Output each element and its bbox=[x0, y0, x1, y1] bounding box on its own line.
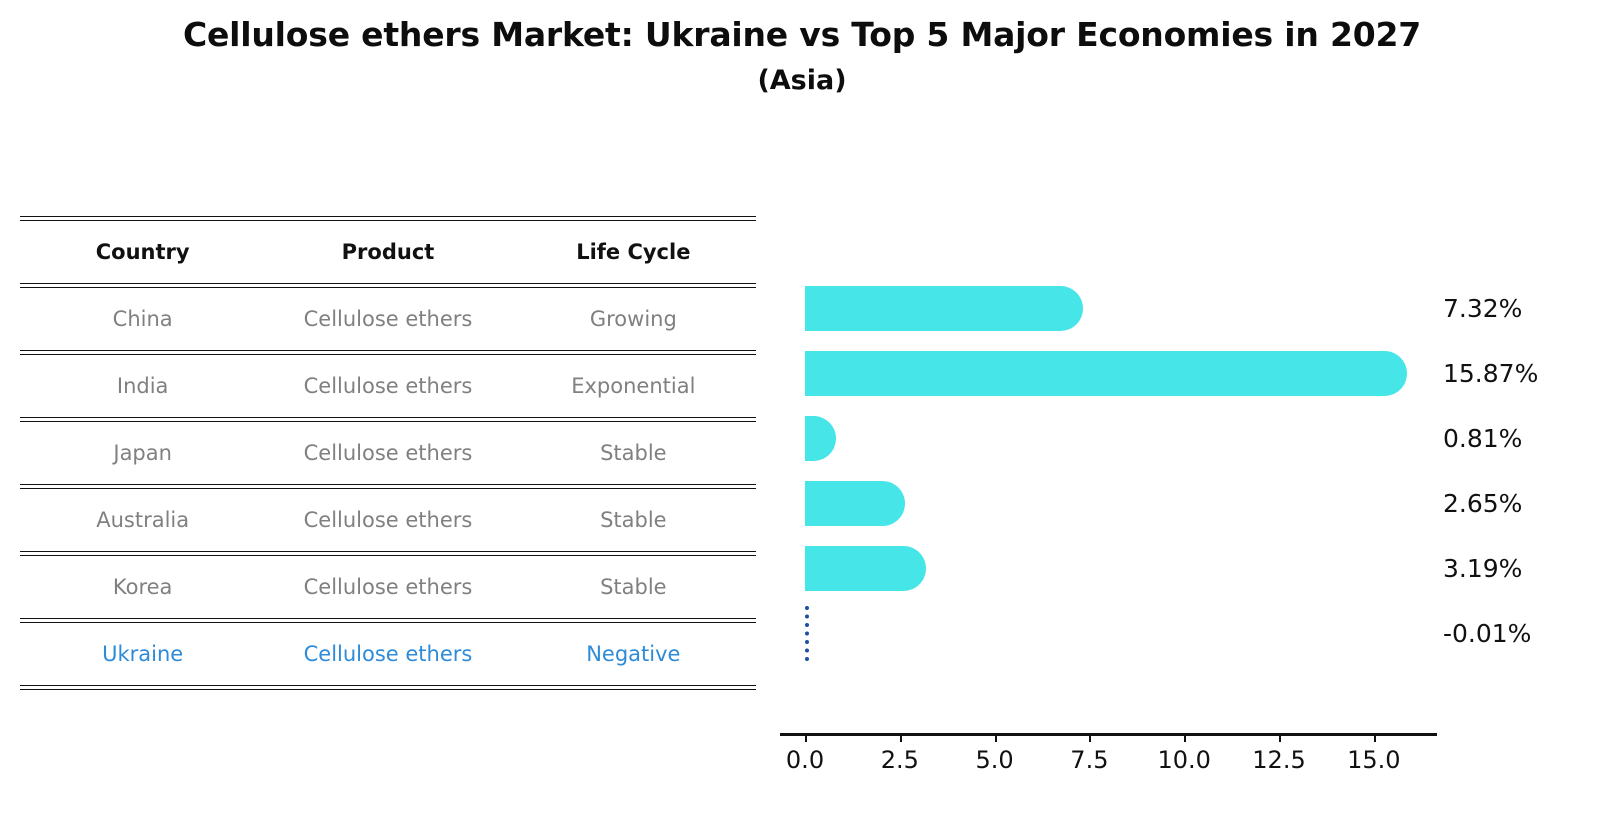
x-tick-label: 12.5 bbox=[1252, 746, 1305, 774]
x-tick bbox=[900, 733, 902, 742]
bar-row: 7.32% bbox=[780, 276, 1460, 341]
x-tick-label: 7.5 bbox=[1070, 746, 1108, 774]
x-tick-label: 5.0 bbox=[976, 746, 1014, 774]
cell-life-cycle: Stable bbox=[511, 422, 756, 484]
bar-australia[interactable] bbox=[805, 481, 905, 526]
x-tick bbox=[1089, 733, 1091, 742]
column-header-country: Country bbox=[20, 221, 265, 283]
x-axis-line bbox=[780, 733, 1437, 736]
x-tick bbox=[1374, 733, 1376, 742]
table-header-row: Country Product Life Cycle bbox=[20, 221, 756, 283]
bar-row: -0.01% bbox=[780, 601, 1460, 666]
cell-product: Cellulose ethers bbox=[265, 355, 510, 417]
table-rule-bottom bbox=[20, 685, 756, 690]
bar-row: 3.19% bbox=[780, 536, 1460, 601]
table-row: Australia Cellulose ethers Stable bbox=[20, 489, 756, 551]
chart-subtitle: (Asia) bbox=[0, 58, 1604, 104]
x-tick bbox=[805, 733, 807, 742]
country-table-panel: Country Product Life Cycle China Cellulo… bbox=[20, 216, 756, 690]
table-row-highlighted: Ukraine Cellulose ethers Negative bbox=[20, 623, 756, 685]
cell-country: Japan bbox=[20, 422, 265, 484]
cell-product: Cellulose ethers bbox=[265, 288, 510, 350]
x-tick bbox=[1184, 733, 1186, 742]
x-tick-label: 0.0 bbox=[786, 746, 824, 774]
x-tick-label: 2.5 bbox=[881, 746, 919, 774]
bar-value-label: 15.87% bbox=[1443, 351, 1538, 396]
bar-value-label: 0.81% bbox=[1443, 416, 1522, 461]
cell-country: Korea bbox=[20, 556, 265, 618]
table-row: China Cellulose ethers Growing bbox=[20, 288, 756, 350]
cell-country: Australia bbox=[20, 489, 265, 551]
country-table: Country Product Life Cycle China Cellulo… bbox=[20, 216, 756, 690]
cell-country: China bbox=[20, 288, 265, 350]
cell-product: Cellulose ethers bbox=[265, 623, 510, 685]
x-tick-label: 10.0 bbox=[1157, 746, 1210, 774]
chart-page: Cellulose ethers Market: Ukraine vs Top … bbox=[0, 0, 1604, 823]
cell-life-cycle: Growing bbox=[511, 288, 756, 350]
x-tick-label: 15.0 bbox=[1347, 746, 1400, 774]
table-body: Country Product Life Cycle China Cellulo… bbox=[20, 216, 756, 690]
bar-india[interactable] bbox=[805, 351, 1407, 396]
plot-area: 0.02.55.07.510.012.515.0 7.32%15.87%0.81… bbox=[780, 276, 1460, 676]
cell-life-cycle: Stable bbox=[511, 489, 756, 551]
x-tick bbox=[1279, 733, 1281, 742]
cell-life-cycle: Exponential bbox=[511, 355, 756, 417]
table-row: Japan Cellulose ethers Stable bbox=[20, 422, 756, 484]
bar-korea[interactable] bbox=[805, 546, 926, 591]
bar-value-label: -0.01% bbox=[1443, 611, 1531, 656]
cell-country: India bbox=[20, 355, 265, 417]
bar-china[interactable] bbox=[805, 286, 1083, 331]
chart-title: Cellulose ethers Market: Ukraine vs Top … bbox=[0, 12, 1604, 58]
rule bbox=[20, 685, 756, 690]
x-tick bbox=[995, 733, 997, 742]
bar-row: 2.65% bbox=[780, 471, 1460, 536]
chart-title-block: Cellulose ethers Market: Ukraine vs Top … bbox=[0, 12, 1604, 104]
cell-country: Ukraine bbox=[20, 623, 265, 685]
cell-life-cycle: Negative bbox=[511, 623, 756, 685]
cell-product: Cellulose ethers bbox=[265, 422, 510, 484]
column-header-life-cycle: Life Cycle bbox=[511, 221, 756, 283]
cell-life-cycle: Stable bbox=[511, 556, 756, 618]
bar-value-label: 7.32% bbox=[1443, 286, 1522, 331]
bar-japan[interactable] bbox=[805, 416, 836, 461]
bar-value-label: 3.19% bbox=[1443, 546, 1522, 591]
bar-chart-panel: 0.02.55.07.510.012.515.0 7.32%15.87%0.81… bbox=[780, 216, 1580, 736]
table-row: India Cellulose ethers Exponential bbox=[20, 355, 756, 417]
column-header-product: Product bbox=[265, 221, 510, 283]
bar-value-label: 2.65% bbox=[1443, 481, 1522, 526]
cell-product: Cellulose ethers bbox=[265, 489, 510, 551]
bar-row: 15.87% bbox=[780, 341, 1460, 406]
cell-product: Cellulose ethers bbox=[265, 556, 510, 618]
bar-ukraine-zero[interactable] bbox=[805, 606, 813, 661]
table-row: Korea Cellulose ethers Stable bbox=[20, 556, 756, 618]
bar-row: 0.81% bbox=[780, 406, 1460, 471]
